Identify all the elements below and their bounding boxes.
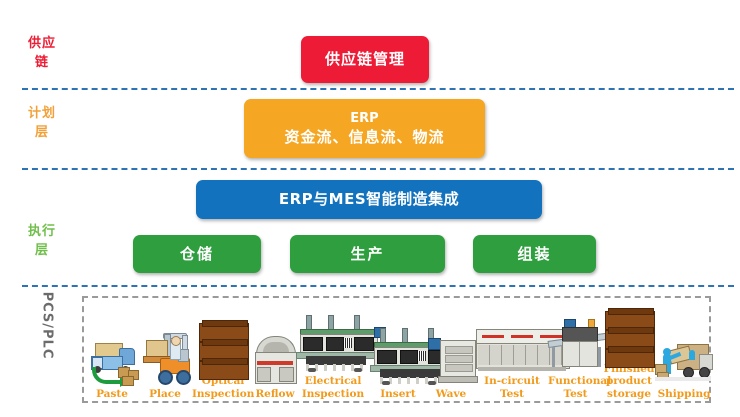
diagram-canvas: 供应链 计划层 执行层 PCS/PLC 供应链管理 ERP 资金流、信息流、物流…	[0, 0, 740, 417]
station-paste[interactable]: Paste	[86, 300, 138, 400]
loading-truck-icon	[655, 334, 713, 386]
erp-box[interactable]: ERP 资金流、信息流、物流	[244, 99, 485, 158]
stacked-crates-icon	[603, 305, 655, 361]
station-label: Insert	[370, 386, 426, 401]
station-label: Electrical Inspection	[296, 373, 370, 400]
station-icon-wrap	[254, 324, 296, 386]
station-wave[interactable]: Wave	[426, 300, 476, 400]
station-insert[interactable]: Insert	[370, 300, 426, 400]
station-label: In-circuit Test	[476, 373, 548, 400]
station-place[interactable]: Place	[138, 300, 192, 400]
smt-placement-machine-icon	[370, 328, 426, 386]
production-line-stations: Paste Place Optical Inspection	[86, 300, 708, 400]
station-icon-wrap	[138, 324, 192, 386]
station-finished-product-storage[interactable]: Finished product storage	[603, 300, 655, 400]
layer-separator-2	[22, 168, 734, 170]
reflow-oven-icon	[254, 334, 296, 386]
station-label: Place	[138, 386, 192, 401]
supply-chain-management-box[interactable]: 供应链管理	[301, 36, 429, 83]
station-electrical-inspection[interactable]: Electrical Inspection	[296, 300, 370, 400]
station-icon-wrap	[603, 300, 655, 361]
station-label: Wave	[426, 386, 476, 401]
erp-title: ERP	[350, 110, 378, 128]
erp-subtitle: 资金流、信息流、物流	[284, 127, 444, 147]
station-label: Functional Test	[548, 373, 603, 400]
execution-box-production[interactable]: 生产	[290, 235, 445, 273]
delivery-truck-icon	[86, 334, 138, 386]
layer-separator-3	[22, 285, 734, 287]
execution-box-assembly[interactable]: 组装	[473, 235, 596, 273]
station-shipping[interactable]: Shipping	[655, 300, 713, 400]
layer-separator-1	[22, 88, 734, 90]
layer-label-planning: 计划层	[22, 104, 62, 142]
test-bench-icon	[476, 323, 548, 373]
station-optical-inspection[interactable]: Optical Inspection	[192, 300, 254, 400]
station-icon-wrap	[476, 311, 548, 373]
station-icon-wrap	[548, 311, 603, 373]
layer-label-supply-chain: 供应链	[22, 34, 62, 72]
layer-label-pcs-plc: PCS/PLC	[40, 291, 55, 361]
station-icon-wrap	[86, 324, 138, 386]
station-icon-wrap	[655, 324, 713, 386]
station-icon-wrap	[370, 324, 426, 386]
router-machine-icon	[548, 317, 603, 373]
station-reflow[interactable]: Reflow	[254, 300, 296, 400]
wave-solder-cabinet-icon	[426, 330, 476, 386]
station-functional-test[interactable]: Functional Test	[548, 300, 603, 400]
station-label: Shipping	[655, 386, 713, 401]
smt-placement-machine-icon	[296, 315, 370, 373]
station-icon-wrap	[192, 311, 254, 373]
station-icon-wrap	[426, 324, 476, 386]
forklift-icon	[138, 332, 192, 386]
stacked-crates-icon	[197, 317, 249, 373]
station-icon-wrap	[296, 311, 370, 373]
erp-mes-integration-box[interactable]: ERP与MES智能制造集成	[196, 180, 542, 219]
station-label: Paste	[86, 386, 138, 401]
station-in-circuit-test[interactable]: In-circuit Test	[476, 300, 548, 400]
execution-box-warehouse[interactable]: 仓储	[133, 235, 261, 273]
layer-label-execution: 执行层	[22, 222, 62, 260]
station-label: Reflow	[254, 386, 296, 401]
